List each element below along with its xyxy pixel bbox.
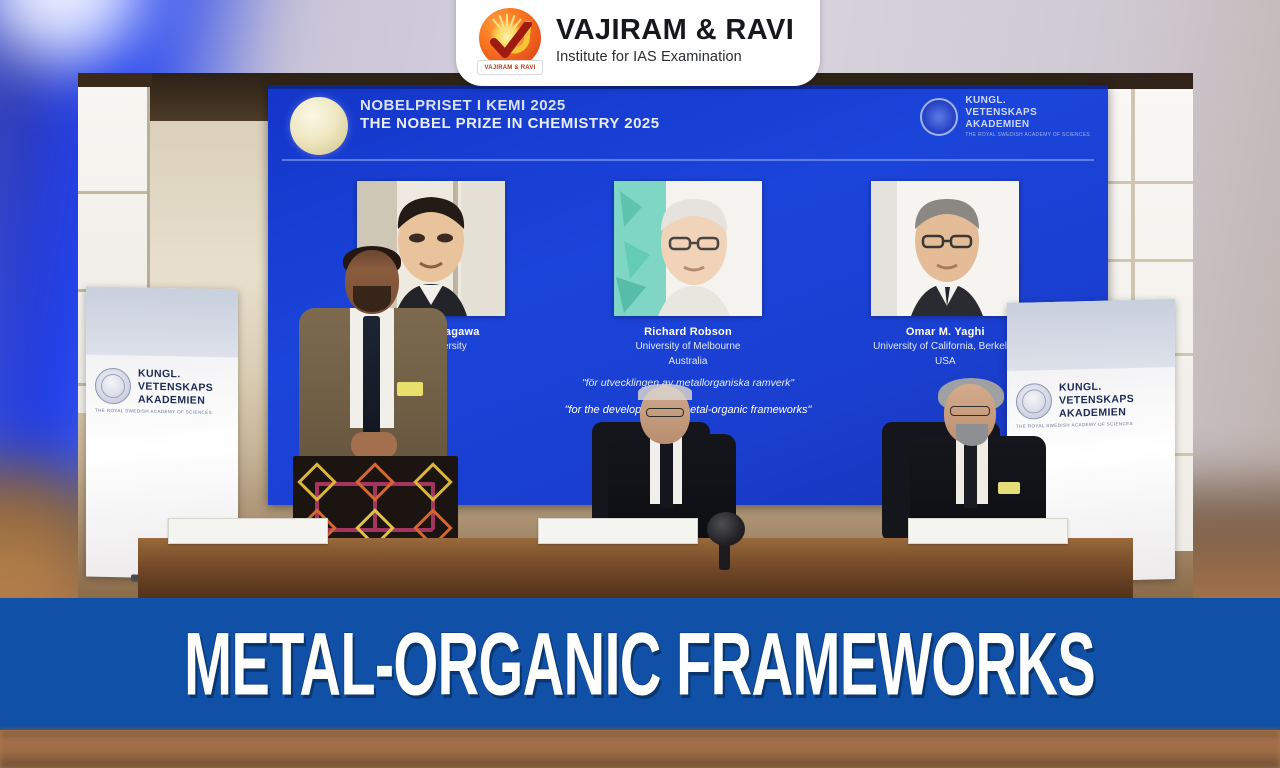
slide-title-english: THE NOBEL PRIZE IN CHEMISTRY 2025 — [360, 115, 660, 133]
news-photo: NOBELPRISET I KEMI 2025 THE NOBEL PRIZE … — [78, 73, 1193, 600]
laureate-photo — [871, 181, 1019, 316]
laureate-country: Australia — [588, 355, 788, 368]
laureate-affiliation: University of Melbourne — [588, 340, 788, 353]
nameplate-text — [169, 527, 327, 533]
slide-academy-mark: KUNGL.VETENSKAPSAKADEMIEN THE ROYAL SWED… — [920, 95, 1090, 138]
presenter-beard — [353, 286, 391, 312]
slide-divider — [282, 159, 1094, 161]
slide-academy-name: KUNGL.VETENSKAPSAKADEMIEN — [965, 95, 1090, 130]
nameplate — [908, 518, 1068, 544]
slide-academy-subtitle: THE ROYAL SWEDISH ACADEMY OF SCIENCES — [965, 132, 1090, 138]
laureate-card: Richard Robson University of Melbourne A… — [588, 181, 788, 368]
logo-ribbon: VAJIRAM & RAVI — [477, 60, 543, 75]
microphone-head — [707, 512, 745, 546]
rollup-right-text: KUNGL.VETENSKAPSAKADEMIEN — [1059, 380, 1134, 420]
laureate-name: Richard Robson — [588, 326, 788, 338]
rollup-left-top — [86, 287, 238, 358]
rollup-left-text: KUNGL.VETENSKAPSAKADEMIEN — [138, 368, 213, 408]
presenter-name-badge — [397, 382, 423, 396]
panelist-right-glasses — [950, 406, 990, 416]
portrait-richard-robson-icon — [614, 181, 762, 316]
rollup-left-subtitle: THE ROYAL SWEDISH ACADEMY OF SCIENCES — [86, 408, 238, 416]
panelist-right-beard — [956, 424, 988, 446]
panelist-left-glasses — [646, 408, 684, 417]
royal-academy-seal-icon — [920, 98, 958, 136]
background-warm-patch — [0, 464, 68, 602]
portrait-omar-m-yaghi-icon — [871, 181, 1019, 316]
slide-title-block: NOBELPRISET I KEMI 2025 THE NOBEL PRIZE … — [360, 97, 660, 134]
checkmark-icon — [488, 22, 532, 62]
slide-title-swedish: NOBELPRISET I KEMI 2025 — [360, 97, 660, 115]
panelist-left-hair — [638, 384, 692, 400]
brand-tagline: Institute for IAS Examination — [556, 49, 794, 65]
nameplate-text — [539, 527, 697, 533]
nameplate — [168, 518, 328, 544]
microphone-icon — [703, 512, 747, 562]
brand-text-block: VAJIRAM & RAVI Institute for IAS Examina… — [556, 15, 794, 65]
rollup-left-logo-row: KUNGL.VETENSKAPSAKADEMIEN — [86, 355, 238, 408]
panelist-left-tie — [660, 442, 673, 508]
brand-logo-card: VAJIRAM & RAVI VAJIRAM & RAVI Institute … — [456, 0, 820, 86]
screenshot-root: NOBELPRISET I KEMI 2025 THE NOBEL PRIZE … — [0, 0, 1280, 768]
headline-banner: METAL-ORGANIC FRAMEWORKS — [0, 598, 1280, 730]
nameplate — [538, 518, 698, 544]
nameplate-text — [909, 527, 1067, 533]
nobel-medal-icon — [290, 97, 348, 155]
window-left-beam — [78, 73, 152, 87]
conference-table — [138, 538, 1133, 600]
laureate-photo — [614, 181, 762, 316]
rollup-right-top — [1007, 299, 1175, 371]
royal-academy-seal-icon — [95, 368, 131, 405]
presenter-tie — [363, 316, 380, 434]
presenter-hands — [351, 432, 397, 458]
panelist-right-badge — [998, 482, 1020, 494]
bottom-strip — [0, 730, 1280, 768]
vajiram-ravi-logo-icon: VAJIRAM & RAVI — [476, 6, 544, 74]
panelist-right-tie — [964, 444, 977, 508]
logo-ribbon-text: VAJIRAM & RAVI — [485, 65, 536, 71]
brand-name: VAJIRAM & RAVI — [556, 15, 794, 45]
headline-text: METAL-ORGANIC FRAMEWORKS — [184, 612, 1095, 716]
